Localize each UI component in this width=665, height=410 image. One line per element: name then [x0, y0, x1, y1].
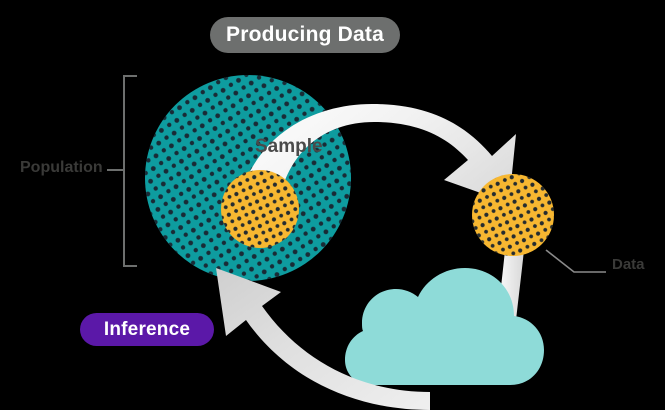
data-label: Data [612, 256, 645, 273]
population-label: Population [20, 159, 103, 177]
sample-label: Sample [255, 136, 323, 158]
data-circle [472, 174, 554, 256]
diagram-canvas: Producing Data Inference Population Samp… [0, 0, 665, 410]
sample-circle [221, 170, 299, 248]
data-leader-line [546, 250, 606, 272]
producing-data-label: Producing Data [210, 17, 400, 53]
inference-label: Inference [80, 313, 214, 346]
population-bracket [107, 76, 137, 266]
diagram-artwork [0, 0, 665, 410]
